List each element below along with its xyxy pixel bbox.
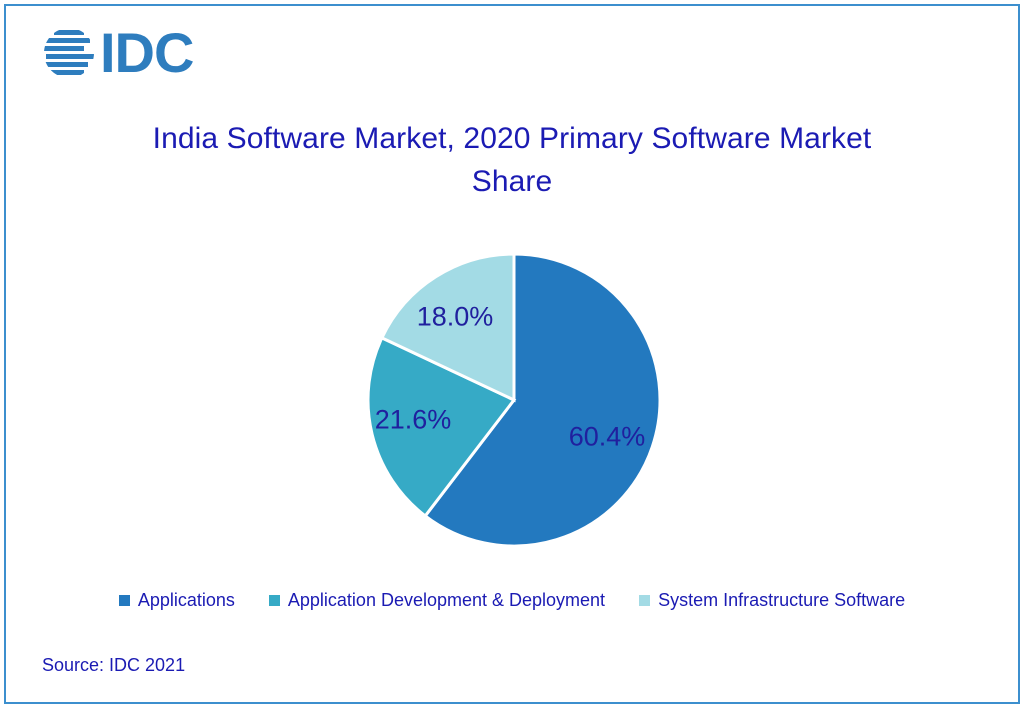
pie-data-label-sysinfra: 18.0% (417, 302, 494, 333)
legend-item-applications[interactable]: Applications (119, 590, 235, 611)
pie-data-label-appdev: 21.6% (375, 405, 452, 436)
slide-canvas: IDC India Software Market, 2020 Primary … (0, 0, 1024, 708)
idc-globe-icon (40, 24, 98, 82)
legend-label-sysinfra: System Infrastructure Software (658, 590, 905, 611)
idc-logo: IDC (40, 24, 193, 82)
source-note: Source: IDC 2021 (42, 655, 185, 676)
legend-swatch-icon (639, 595, 650, 606)
idc-wordmark: IDC (100, 25, 193, 81)
legend-label-applications: Applications (138, 590, 235, 611)
legend-item-appdev[interactable]: Application Development & Deployment (269, 590, 605, 611)
pie-chart-svg (368, 254, 660, 546)
legend-label-appdev: Application Development & Deployment (288, 590, 605, 611)
legend-swatch-icon (119, 595, 130, 606)
pie-chart (368, 254, 660, 546)
legend-swatch-icon (269, 595, 280, 606)
pie-data-label-applications: 60.4% (569, 422, 646, 453)
pie-slice-group (368, 254, 660, 546)
legend-item-sysinfra[interactable]: System Infrastructure Software (639, 590, 905, 611)
chart-title: India Software Market, 2020 Primary Soft… (112, 118, 912, 203)
chart-legend: Applications Application Development & D… (0, 590, 1024, 611)
